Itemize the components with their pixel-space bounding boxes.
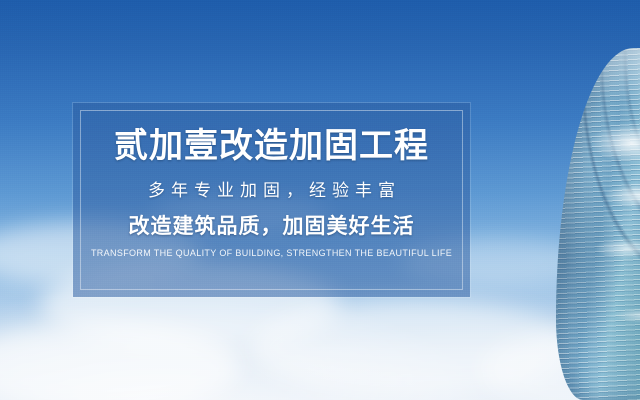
building-glass-highlight bbox=[556, 48, 640, 400]
panel-content: 贰加壹改造加固工程 多年专业加固，经验丰富 改造建筑品质，加固美好生活 TRAN… bbox=[73, 103, 470, 297]
english-tagline: TRANSFORM THE QUALITY OF BUILDING, STREN… bbox=[91, 249, 452, 258]
subtitle-text: 多年专业加固，经验丰富 bbox=[142, 182, 401, 199]
page-title: 贰加壹改造加固工程 bbox=[114, 129, 429, 163]
headline-panel: 贰加壹改造加固工程 多年专业加固，经验丰富 改造建筑品质，加固美好生活 TRAN… bbox=[73, 103, 470, 297]
slogan-text: 改造建筑品质，加固美好生活 bbox=[129, 216, 415, 237]
skyscraper-building bbox=[556, 48, 640, 400]
banner-image: 贰加壹改造加固工程 多年专业加固，经验丰富 改造建筑品质，加固美好生活 TRAN… bbox=[0, 0, 640, 400]
